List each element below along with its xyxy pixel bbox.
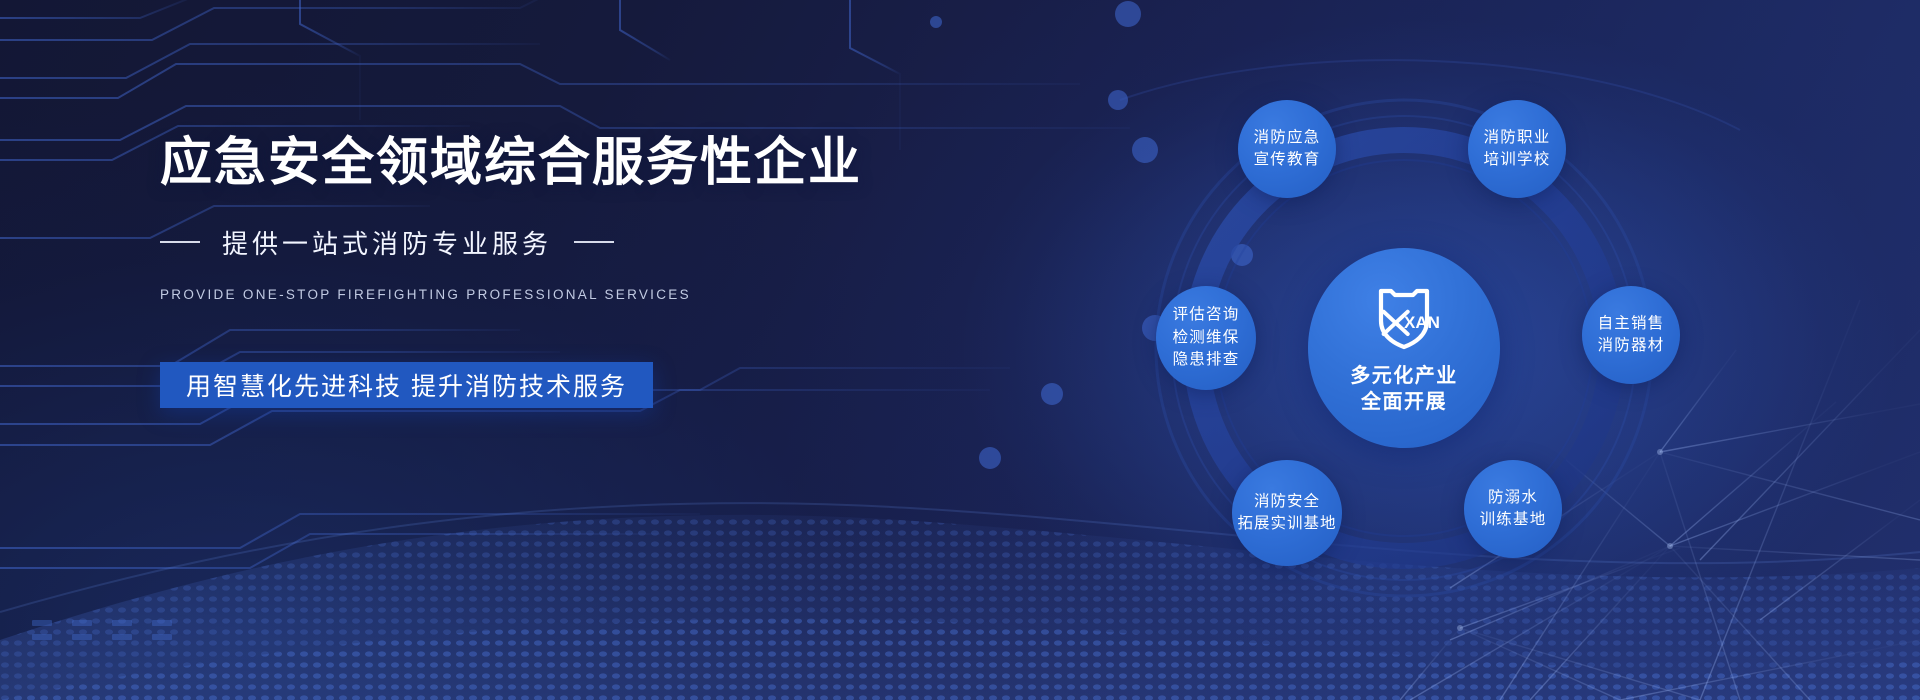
node-label-line2: 检测维保 [1173,327,1240,349]
node-assessment-consulting[interactable]: 评估咨询 检测维保 隐患排查 [1156,286,1256,390]
rule-left-icon [160,241,200,243]
service-ecosystem-diagram: XAN 多元化产业 全面开展 消防应急 宣传教育 消防职业 培训学校 评估咨询 … [1120,78,1760,618]
node-equipment-sales[interactable]: 自主销售 消防器材 [1582,286,1680,384]
hero-banner: 应急安全领域综合服务性企业 提供一站式消防专业服务 PROVIDE ONE-ST… [0,0,1920,700]
node-label-line1: 消防职业 [1484,127,1551,149]
center-node-label: 多元化产业 全面开展 [1350,363,1458,415]
node-drowning-prevention-base[interactable]: 防溺水 训练基地 [1464,460,1562,558]
node-label-line3: 隐患排查 [1173,349,1240,371]
shield-icon: XAN [1365,281,1443,359]
node-label-line2: 训练基地 [1480,509,1547,531]
node-label-line2: 拓展实训基地 [1237,513,1336,535]
node-label-line1: 消防应急 [1254,127,1321,149]
logo-wordmark: XAN [1404,313,1440,332]
circuit-dashes [32,620,172,640]
cta-button[interactable]: 用智慧化先进科技 提升消防技术服务 [160,362,653,408]
node-label-line2: 培训学校 [1484,149,1551,171]
rule-right-icon [574,241,614,243]
page-title: 应急安全领域综合服务性企业 [160,134,880,194]
node-label-line2: 宣传教育 [1254,149,1321,171]
node-label-line2: 消防器材 [1598,335,1665,357]
node-fire-emergency-education[interactable]: 消防应急 宣传教育 [1238,100,1336,198]
subheadline: 提供一站式消防专业服务 [222,224,552,261]
subheadline-row: 提供一站式消防专业服务 [160,224,880,261]
node-label-line1: 消防安全 [1254,491,1320,513]
node-label-line1: 自主销售 [1598,313,1665,335]
center-node[interactable]: XAN 多元化产业 全面开展 [1308,248,1500,448]
center-label-line2: 全面开展 [1350,389,1458,415]
hero-text-block: 应急安全领域综合服务性企业 提供一站式消防专业服务 PROVIDE ONE-ST… [160,134,880,408]
node-label-line1: 评估咨询 [1173,304,1240,326]
node-safety-training-base[interactable]: 消防安全 拓展实训基地 [1232,460,1342,566]
node-fire-vocational-school[interactable]: 消防职业 培训学校 [1468,100,1566,198]
node-label-line1: 防溺水 [1488,487,1538,509]
center-label-line1: 多元化产业 [1350,363,1458,389]
english-tagline: PROVIDE ONE-STOP FIREFIGHTING PROFESSION… [160,287,880,302]
